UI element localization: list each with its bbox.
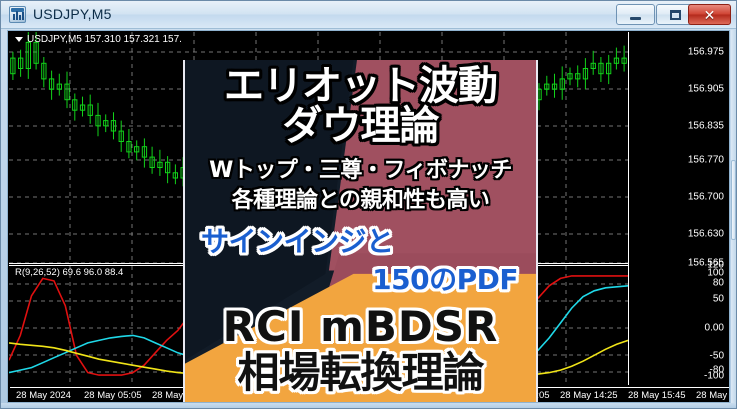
promo-overlay: エリオット波動 ダウ理論 Wトップ・三尊・フィボナッチ 各種理論との親和性も高い… — [183, 60, 538, 403]
chart-header-text: USDJPY,M5 157.310 157.321 157. — [27, 34, 182, 45]
overlay-footer-2: 相場転換理論 — [185, 352, 536, 394]
time-axis-label: 28 May 17:05 — [696, 390, 730, 401]
chart-header-label: USDJPY,M5 157.310 157.321 157. — [15, 34, 182, 45]
close-button[interactable]: ✕ — [688, 4, 731, 25]
overlay-subline-2: 各種理論との親和性も高い — [185, 190, 536, 212]
indicator-axis-label: 50 — [713, 294, 724, 305]
title-bar: USDJPY,M5 ✕ — [1, 1, 736, 29]
maximize-icon — [670, 10, 681, 20]
time-axis-label: 28 May 05:05 — [84, 390, 142, 401]
price-axis-label: 156.835 — [688, 121, 724, 132]
status-bar — [1, 403, 736, 408]
application-window: USDJPY,M5 ✕ — [0, 0, 737, 409]
chart-dropdown-caret-icon[interactable] — [15, 37, 23, 42]
price-axis-label: 156.975 — [688, 47, 724, 58]
overlay-headline-1: エリオット波動 — [185, 66, 536, 106]
price-axis-label: 156.630 — [688, 229, 724, 240]
indicator-axis-label: 0.00 — [705, 323, 724, 334]
minimize-icon — [630, 17, 641, 20]
indicator-axis-label: -100 — [704, 371, 724, 382]
time-axis-label: 28 May 15:45 — [628, 390, 686, 401]
rci-header-label: R(9,26,52) 69.6 96.0 88.4 — [15, 267, 123, 278]
minimize-button[interactable] — [616, 4, 655, 25]
price-axis: 156.975156.905156.835156.770156.700156.6… — [628, 32, 728, 385]
vertical-scrollbar[interactable] — [731, 30, 736, 403]
overlay-headline-2: ダウ理論 — [185, 106, 536, 146]
overlay-blue-line-2: 150のPDF — [185, 266, 536, 294]
overlay-footer-1: RCI mBDSR — [185, 306, 536, 348]
scrollbar-thumb[interactable] — [731, 160, 736, 240]
window-title: USDJPY,M5 — [33, 6, 112, 22]
indicator-axis-label: -50 — [710, 351, 724, 362]
time-axis-label: 28 May 2024 — [16, 390, 71, 401]
time-axis-label: 28 May 14:25 — [560, 390, 618, 401]
overlay-subline-1: Wトップ・三尊・フィボナッチ — [185, 160, 536, 182]
price-axis-label: 156.770 — [688, 155, 724, 166]
overlay-blue-line-1: サインインジと — [185, 228, 536, 256]
price-axis-label: 156.905 — [688, 84, 724, 95]
chart-app-icon — [9, 6, 26, 23]
indicator-axis-label: 80 — [713, 278, 724, 289]
price-axis-label: 156.700 — [688, 192, 724, 203]
close-icon: ✕ — [704, 8, 716, 22]
chart-client-area[interactable]: USDJPY,M5 157.310 157.321 157. — [7, 30, 730, 403]
